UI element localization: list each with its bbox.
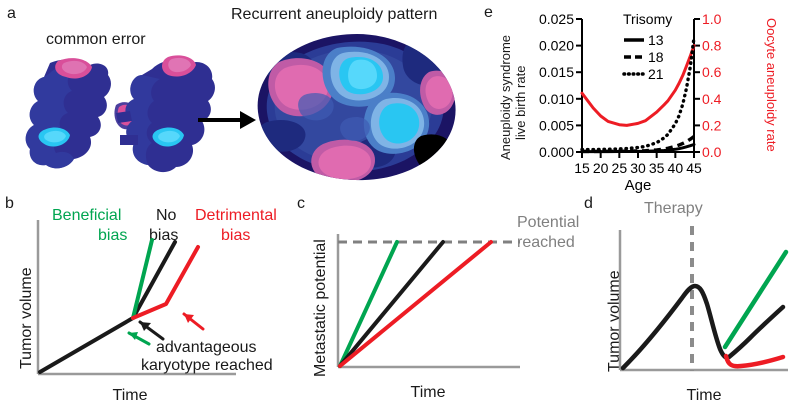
- svg-text:18: 18: [648, 49, 664, 65]
- panel-c-series-beneficial-bias: [340, 242, 397, 366]
- panel-e-xtick-15: 15: [574, 160, 590, 176]
- panel-e-legend-item-21: 21: [624, 66, 664, 82]
- panel-c-xlabel: Time: [411, 384, 446, 401]
- panel-a: a common error Recurrent aneuploidy patt…: [0, 0, 480, 192]
- panel-e-ytick-0.015: 0.015: [539, 64, 574, 80]
- mis-segregating-chromosomes-illustration: [20, 55, 220, 180]
- panel-e-left-axis-label-line1: Aneuploidy syndrome: [498, 35, 513, 160]
- panel-e-legend-title: Trisomy: [623, 11, 672, 27]
- panel-b-black-arrow-icon: [140, 322, 163, 339]
- panel-e-ytick-0.010: 0.010: [539, 91, 574, 107]
- panel-b: b Beneficial bias No bias Detrimental bi…: [0, 192, 296, 411]
- panel-b-annotation-line2: karyotype reached: [141, 357, 273, 374]
- aneuploidy-heatmap-cell-illustration: [253, 32, 463, 182]
- panel-e-legend-item-13: 13: [624, 32, 664, 48]
- panel-e-xtick-35: 35: [649, 160, 665, 176]
- panel-b-red-arrow-icon: [184, 314, 203, 329]
- panel-b-letter: b: [5, 196, 14, 212]
- panel-e-legend-item-18: 18: [624, 49, 664, 65]
- panel-d-xlabel: Time: [687, 387, 722, 404]
- panel-c-chart: Time: [324, 212, 564, 407]
- panel-e-ytick-0.000: 0.000: [539, 144, 574, 160]
- panel-b-xlabel: Time: [113, 387, 148, 404]
- panel-a-left-caption: common error: [46, 32, 146, 49]
- panel-e-y2tick-1.0: 1.0: [702, 11, 722, 27]
- panel-d-series-no-bias: [623, 286, 783, 368]
- panel-c-series-detrimental-bias: [340, 242, 491, 366]
- panel-c-letter: c: [297, 196, 305, 212]
- panel-e-xtick-20: 20: [593, 160, 609, 176]
- panel-e-y2tick-0.0: 0.0: [702, 144, 722, 160]
- svg-text:21: 21: [648, 66, 664, 82]
- panel-e-ytick-0.020: 0.020: [539, 38, 574, 54]
- panel-a-letter: a: [7, 6, 16, 22]
- panel-c-series-no-bias: [340, 242, 443, 366]
- panel-b-chart: advantageous karyotype reached Time: [30, 216, 290, 406]
- panel-d-series-detrimental-bias: [726, 356, 783, 366]
- panel-e-y2tick-0.6: 0.6: [702, 64, 722, 80]
- panel-d-chart: Time: [602, 216, 792, 411]
- panel-e-y2tick-0.2: 0.2: [702, 117, 722, 133]
- panel-e-xtick-30: 30: [630, 160, 646, 176]
- panel-b-series-beneficial-bias: [133, 240, 152, 318]
- panel-d-letter: d: [584, 196, 593, 212]
- panel-e-xtick-45: 45: [686, 160, 702, 176]
- panel-e-y2tick-0.8: 0.8: [702, 38, 722, 54]
- series-trisomy-21: [582, 38, 694, 150]
- panel-c: c Metastatic potential Potential reached…: [292, 192, 588, 411]
- panel-e-ytick-0.005: 0.005: [539, 117, 574, 133]
- panel-a-right-caption: Recurrent aneuploidy pattern: [231, 7, 437, 24]
- panel-b-green-arrow-icon: [129, 332, 149, 344]
- panel-e-ytick-0.025: 0.025: [539, 11, 574, 27]
- panel-e-y2tick-0.4: 0.4: [702, 91, 722, 107]
- panel-e-xtick-40: 40: [668, 160, 684, 176]
- panel-e-letter: e: [484, 5, 493, 21]
- svg-text:13: 13: [648, 32, 664, 48]
- panel-e: e Aneuploidy syndrome live birth rate Oo…: [482, 0, 792, 192]
- panel-e-chart: 0.025 0.020 0.015 0.010 0.005 0.000 1.0 …: [520, 0, 780, 192]
- panel-e-xtick-25: 25: [612, 160, 628, 176]
- right-arrow-icon: [196, 107, 258, 133]
- panel-b-annotation-line1: advantageous: [156, 339, 257, 356]
- panel-d: d Therapy Tumor volume Time: [582, 192, 792, 411]
